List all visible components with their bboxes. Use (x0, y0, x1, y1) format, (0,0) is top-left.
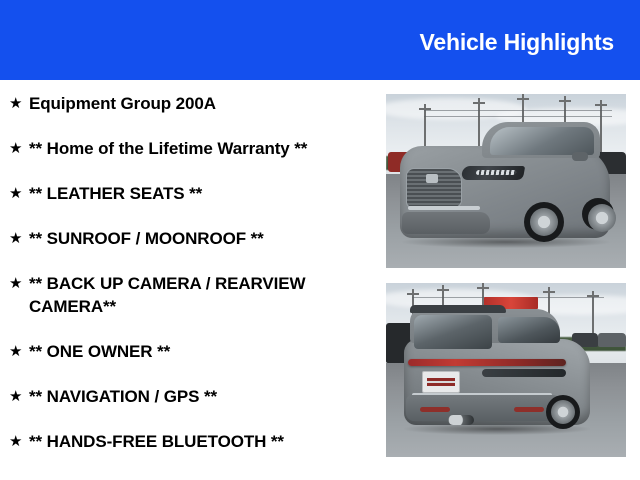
list-item: ★ Equipment Group 200A (0, 92, 378, 115)
list-item: ★ ** NAVIGATION / GPS ** (0, 385, 378, 408)
dealer-license-plate (422, 371, 460, 393)
vehicle-highlights-list: ★ Equipment Group 200A ★ ** Home of the … (0, 80, 378, 480)
list-item: ★ ** ONE OWNER ** (0, 340, 378, 363)
side-mirror (572, 152, 588, 161)
star-bullet-icon: ★ (9, 182, 29, 205)
side-window (498, 317, 560, 343)
list-item: ★ ** HANDS-FREE BLUETOOTH ** (0, 430, 378, 453)
front-bumper (402, 212, 490, 234)
background-car (598, 333, 626, 347)
list-item-label: ** ONE OWNER ** (29, 340, 374, 363)
star-bullet-icon: ★ (9, 137, 29, 160)
taillight-bar (408, 359, 566, 366)
utility-pole (600, 100, 602, 158)
list-item-label: ** LEATHER SEATS ** (29, 182, 374, 205)
star-bullet-icon: ★ (9, 272, 29, 295)
headlight (461, 166, 525, 180)
list-item: ★ ** SUNROOF / MOONROOF ** (0, 227, 378, 250)
page-title: Vehicle Highlights (420, 29, 615, 55)
list-item: ★ ** Home of the Lifetime Warranty ** (0, 137, 378, 160)
list-item-label: Equipment Group 200A (29, 92, 374, 115)
exhaust-tip (448, 415, 474, 425)
rear-window (414, 315, 492, 349)
lincoln-badge-icon (426, 174, 438, 183)
list-item-label: ** NAVIGATION / GPS ** (29, 385, 374, 408)
taillight-lower (482, 369, 566, 377)
star-bullet-icon: ★ (9, 340, 29, 363)
list-item-label: ** SUNROOF / MOONROOF ** (29, 227, 374, 250)
rear-wheel (582, 198, 614, 230)
star-bullet-icon: ★ (9, 430, 29, 453)
vehicle-photo-rear[interactable] (386, 283, 626, 457)
rear-wheel (546, 395, 580, 429)
list-item-label: ** BACK UP CAMERA / REARVIEW CAMERA** (29, 272, 374, 318)
list-item: ★ ** LEATHER SEATS ** (0, 182, 378, 205)
power-line (424, 110, 612, 111)
list-item: ★ ** BACK UP CAMERA / REARVIEW CAMERA** (0, 272, 378, 318)
header-banner: Vehicle Highlights (0, 0, 640, 80)
bumper-reflector (514, 407, 544, 412)
list-item-label: ** Home of the Lifetime Warranty ** (29, 137, 374, 160)
list-item-label: ** HANDS-FREE BLUETOOTH ** (29, 430, 374, 453)
front-wheel (524, 202, 564, 242)
chrome-trim (408, 206, 480, 210)
star-bullet-icon: ★ (9, 92, 29, 115)
vehicle-photo-front[interactable] (386, 94, 626, 268)
star-bullet-icon: ★ (9, 385, 29, 408)
windshield (490, 127, 594, 155)
star-bullet-icon: ★ (9, 227, 29, 250)
bumper-reflector (420, 407, 450, 412)
vehicle-photo-gallery (386, 94, 626, 480)
rear-spoiler (410, 305, 506, 313)
power-line (424, 116, 612, 117)
